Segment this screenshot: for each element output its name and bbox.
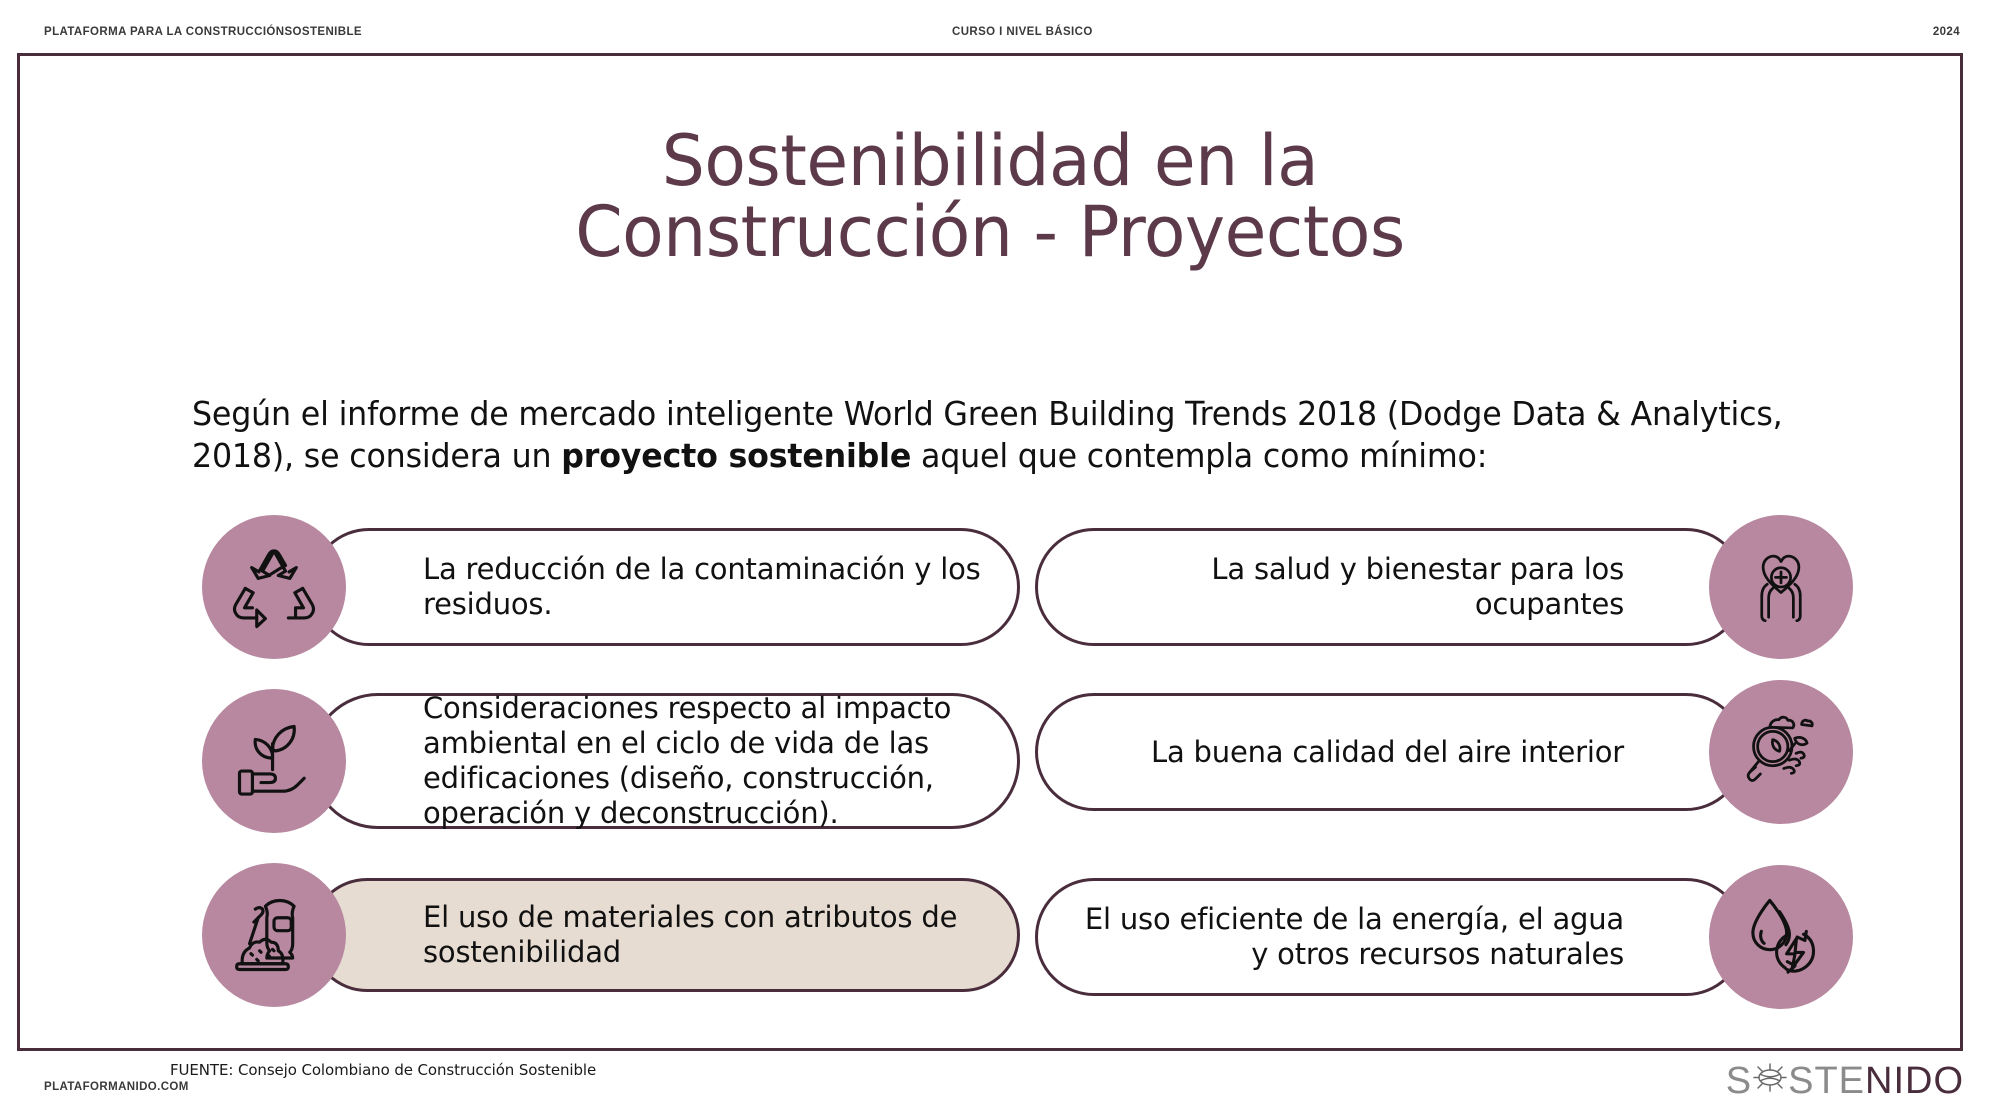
criteria-text: El uso de materiales con atributos de so… (313, 882, 1017, 988)
source-note: FUENTE: Consejo Colombiano de Construcci… (170, 1061, 596, 1079)
criteria-card-grid: La reducción de la contaminación y los r… (20, 528, 2000, 1043)
header-left-label: PLATAFORMA PARA LA CONSTRUCCIÓNSOSTENIBL… (44, 26, 362, 39)
nest-icon (1753, 1060, 1787, 1101)
criteria-card-reduccion-contaminacion[interactable]: La reducción de la contaminación y los r… (310, 528, 1020, 646)
footer-website-url[interactable]: PLATAFORMANIDO.COM (44, 1081, 189, 1093)
slide-header: PLATAFORMA PARA LA CONSTRUCCIÓNSOSTENIBL… (0, 0, 2000, 53)
sostenido-logo[interactable]: S STE NIDO (1726, 1060, 1964, 1101)
criteria-row: La reducción de la contaminación y los r… (20, 528, 2000, 693)
hands-heart-icon (1709, 515, 1853, 659)
criteria-card-impacto-ambiental[interactable]: Consideraciones respecto al impacto ambi… (310, 693, 1020, 829)
criteria-card-calidad-aire[interactable]: La buena calidad del aire interior (1035, 693, 1745, 811)
criteria-text: La reducción de la contaminación y los r… (313, 534, 1017, 640)
intro-bold-term: proyecto sostenible (561, 436, 911, 475)
air-quality-magnifier-icon (1709, 680, 1853, 824)
page-title-line-2: Construcción - Proyectos (49, 197, 1931, 268)
page-title: Sostenibilidad en la Construcción - Proy… (49, 126, 1931, 269)
hand-plant-icon (202, 689, 346, 833)
criteria-pill: La salud y bienestar para los ocupantes (1035, 528, 1745, 646)
criteria-card-salud-bienestar[interactable]: La salud y bienestar para los ocupantes (1035, 528, 1745, 646)
criteria-card-materiales-sostenibles[interactable]: El uso de materiales con atributos de so… (310, 878, 1020, 992)
material-bag-icon (202, 863, 346, 1007)
intro-part-2: aquel que contempla como mínimo: (911, 436, 1487, 475)
criteria-row: El uso de materiales con atributos de so… (20, 878, 2000, 1043)
page-title-line-1: Sostenibilidad en la (49, 126, 1931, 197)
criteria-pill: La reducción de la contaminación y los r… (310, 528, 1020, 646)
logo-text-gray-1: S (1726, 1062, 1752, 1100)
water-energy-icon (1709, 865, 1853, 1009)
criteria-pill: La buena calidad del aire interior (1035, 693, 1745, 811)
header-year-label: 2024 (1933, 26, 1960, 39)
criteria-text: Consideraciones respecto al impacto ambi… (313, 673, 1017, 848)
criteria-pill: El uso eficiente de la energía, el agua … (1035, 878, 1745, 996)
recycling-icon (202, 515, 346, 659)
criteria-card-uso-eficiente-recursos[interactable]: El uso eficiente de la energía, el agua … (1035, 878, 1745, 996)
criteria-text: La salud y bienestar para los ocupantes (1038, 534, 1742, 640)
logo-text-gray-2: STE (1788, 1062, 1865, 1100)
intro-paragraph: Según el informe de mercado inteligente … (192, 393, 1786, 477)
criteria-pill: Consideraciones respecto al impacto ambi… (310, 693, 1020, 829)
slide-frame: Sostenibilidad en la Construcción - Proy… (17, 53, 1963, 1051)
header-center-label: CURSO I NIVEL BÁSICO (952, 26, 1093, 39)
logo-text-dark: NIDO (1865, 1062, 1964, 1100)
criteria-pill: El uso de materiales con atributos de so… (310, 878, 1020, 992)
criteria-row: Consideraciones respecto al impacto ambi… (20, 693, 2000, 878)
criteria-text: La buena calidad del aire interior (1038, 717, 1742, 788)
slide: PLATAFORMA PARA LA CONSTRUCCIÓNSOSTENIBL… (0, 0, 2000, 1113)
criteria-text: El uso eficiente de la energía, el agua … (1038, 884, 1742, 990)
